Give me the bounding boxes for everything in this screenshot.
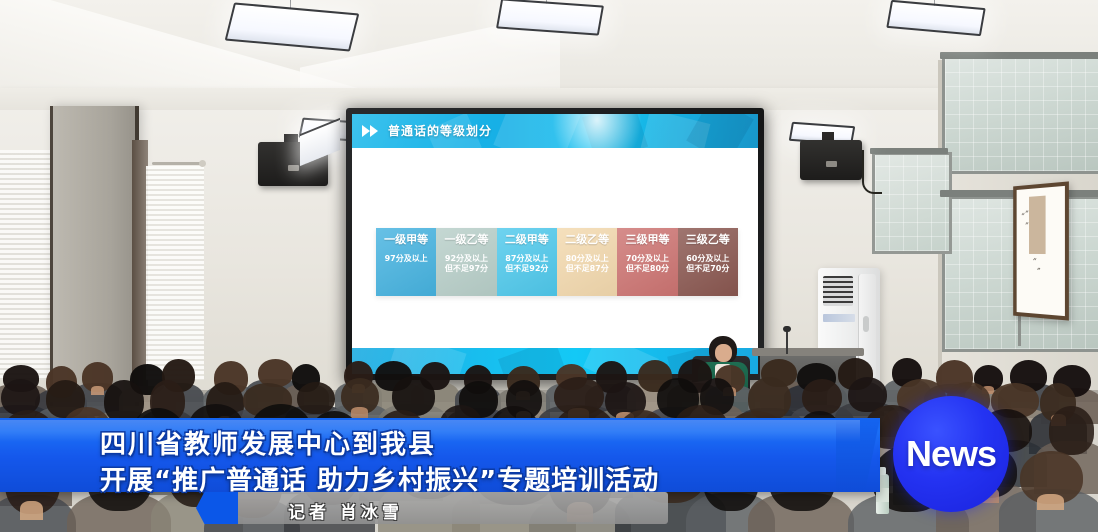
calligraphy-ink-right: 〞〝	[1033, 258, 1041, 270]
window-center-right	[872, 152, 952, 254]
calligraphy-seal-panel	[1029, 196, 1046, 254]
ac-display-panel	[823, 314, 855, 322]
slide-header: 普通话的等级划分	[352, 114, 758, 148]
reporter-credit: 记者 肖冰雪	[288, 498, 403, 523]
grade-cell: 三级甲等70分及以上 但不足80分	[617, 228, 677, 296]
grade-cell: 一级甲等97分及以上	[376, 228, 436, 296]
grade-score: 87分及以上 但不足92分	[505, 254, 548, 274]
grade-score: 80分及以上 但不足87分	[566, 254, 609, 274]
reporter-bar-left-cap	[196, 492, 238, 524]
slide-title: 普通话的等级划分	[388, 122, 492, 139]
window-grid	[945, 59, 1098, 171]
grade-name: 三级乙等	[686, 233, 730, 246]
ac-handle	[863, 316, 869, 332]
broadcast-frame: 〝〞〝 〞〝	[0, 0, 1098, 532]
grade-score: 70分及以上 但不足80分	[626, 254, 669, 274]
grade-cell: 二级甲等87分及以上 但不足92分	[497, 228, 557, 296]
blinds-rod	[152, 162, 204, 165]
window-grid	[875, 155, 949, 251]
grade-name: 二级乙等	[565, 233, 609, 246]
window-upper-right	[942, 56, 1098, 174]
grade-name: 一级甲等	[384, 233, 428, 246]
projection-screen: 普通话的等级划分 一级甲等97分及以上一级乙等92分及以上 但不足97分二级甲等…	[352, 114, 758, 374]
grade-cell: 三级乙等60分及以上 但不足70分	[678, 228, 738, 296]
grade-score: 92分及以上 但不足97分	[445, 254, 488, 274]
framed-calligraphy: 〝〞〝 〞〝	[1013, 181, 1069, 320]
header-facet	[686, 114, 754, 148]
grade-score: 97分及以上	[385, 254, 428, 264]
grade-cell: 二级乙等80分及以上 但不足87分	[557, 228, 617, 296]
window-header-rail-a	[940, 52, 1098, 59]
channel-badge-label: News	[906, 433, 996, 475]
grade-name: 一级乙等	[444, 233, 488, 246]
ac-vent-grill	[823, 276, 853, 306]
podium-top	[752, 348, 864, 356]
play-arrow-icon	[361, 122, 381, 140]
audience-member-neck	[91, 386, 104, 395]
speaker-cable	[862, 150, 882, 194]
calligraphy-ink-left: 〝〞〝	[1021, 205, 1029, 225]
window-blinds-center	[146, 166, 204, 380]
header-facet	[493, 114, 580, 148]
microphone	[786, 330, 788, 354]
grade-name: 三级甲等	[625, 233, 669, 246]
grade-score: 60分及以上 但不足70分	[686, 254, 729, 274]
grade-table: 一级甲等97分及以上一级乙等92分及以上 但不足97分二级甲等87分及以上 但不…	[376, 228, 738, 296]
grade-name: 二级甲等	[505, 233, 549, 246]
slide-body: 一级甲等97分及以上一级乙等92分及以上 但不足97分二级甲等87分及以上 但不…	[352, 148, 758, 348]
wall-speaker-right	[800, 140, 862, 180]
headline-line-1: 四川省教师发展中心到我县	[100, 424, 436, 461]
grade-cell: 一级乙等92分及以上 但不足97分	[436, 228, 496, 296]
header-facet	[582, 114, 648, 148]
channel-badge: News	[893, 396, 1009, 512]
window-blinds-left	[0, 150, 52, 380]
